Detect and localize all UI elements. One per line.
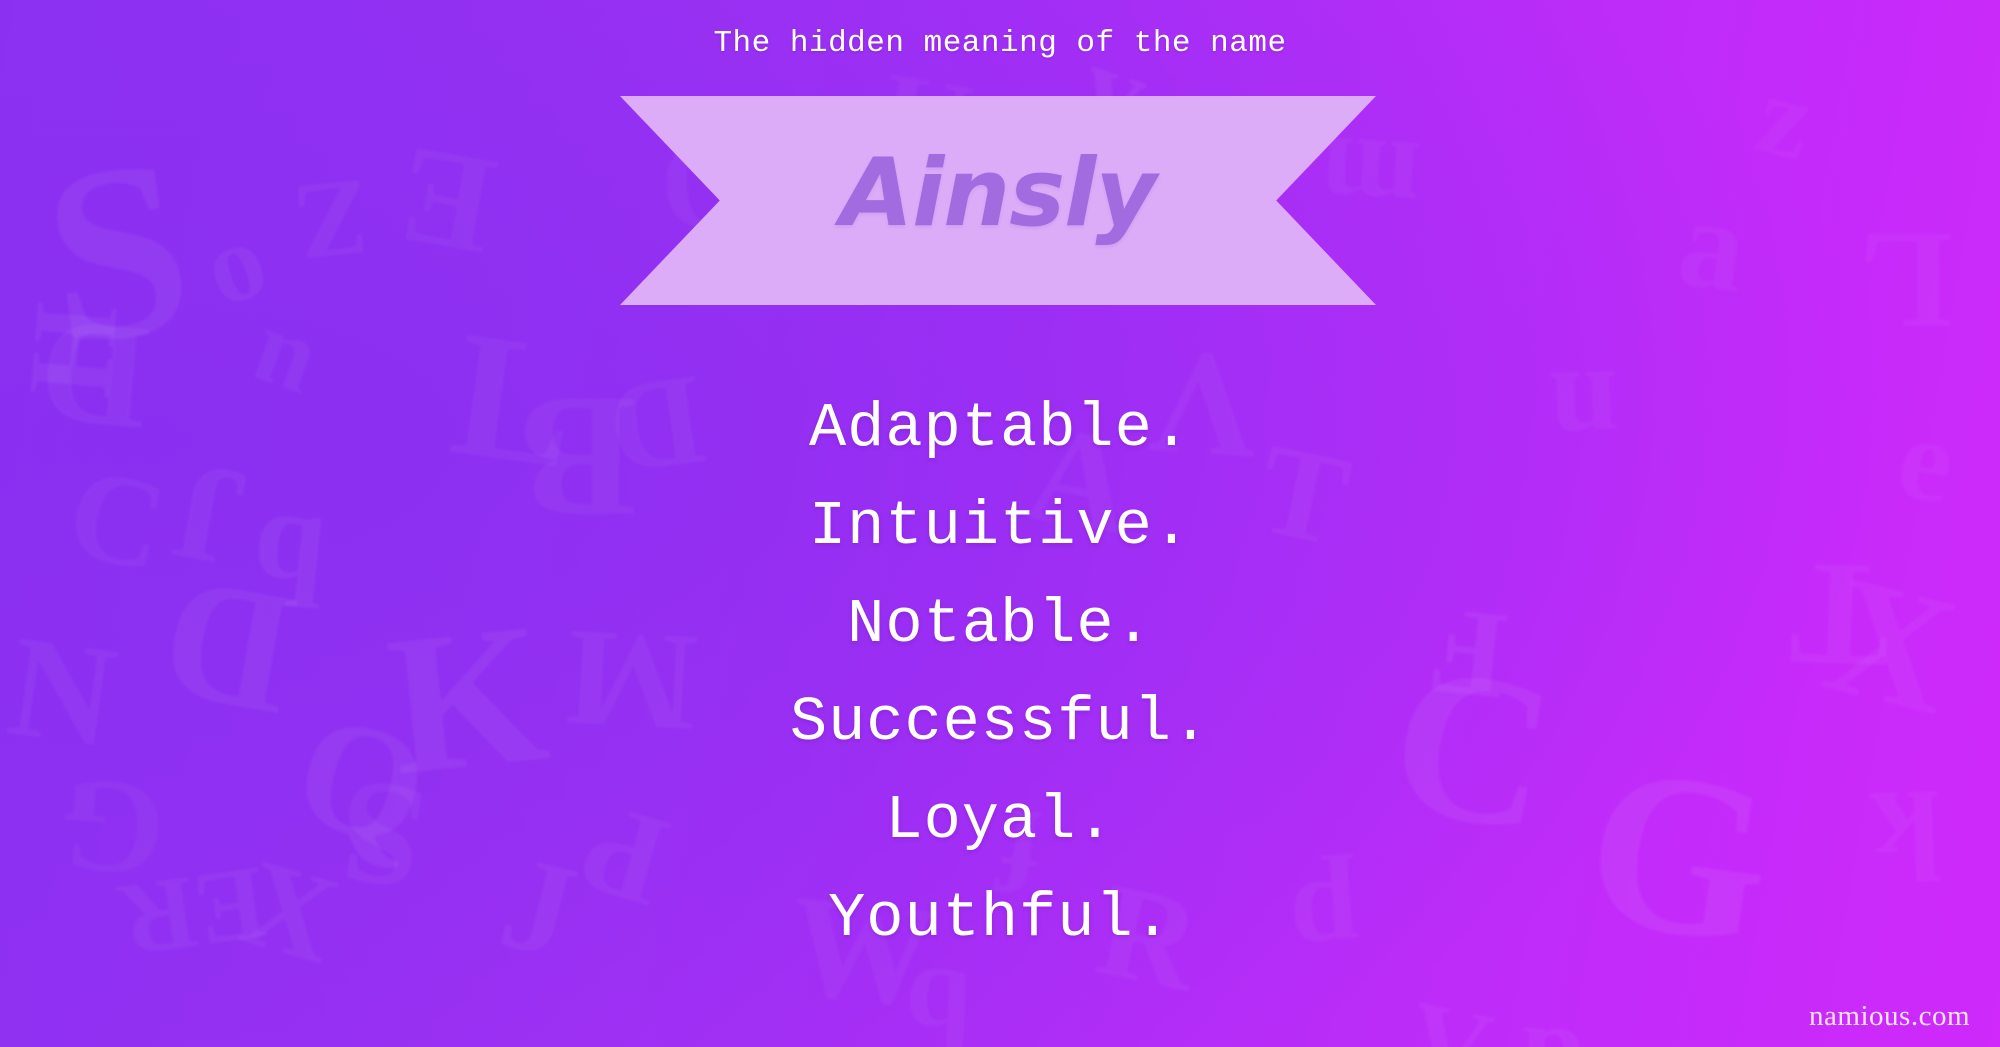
- name-text: Ainsly: [620, 96, 1376, 305]
- name-meaning-card: SHDCouDNZqJQERXEKBLMDJPSySAVTFCGTXkVdpRf…: [0, 0, 2000, 1047]
- trait-list: Adaptable. Intuitive. Notable. Successfu…: [0, 380, 2000, 968]
- trait-item: Youthful.: [0, 870, 2000, 968]
- trait-item: Notable.: [0, 576, 2000, 674]
- name-banner: Ainsly: [620, 96, 1376, 305]
- site-watermark: namious.com: [1809, 1000, 1970, 1033]
- trait-item: Adaptable.: [0, 380, 2000, 478]
- page-title: The hidden meaning of the name: [0, 26, 2000, 61]
- trait-item: Intuitive.: [0, 478, 2000, 576]
- trait-item: Successful.: [0, 674, 2000, 772]
- trait-item: Loyal.: [0, 772, 2000, 870]
